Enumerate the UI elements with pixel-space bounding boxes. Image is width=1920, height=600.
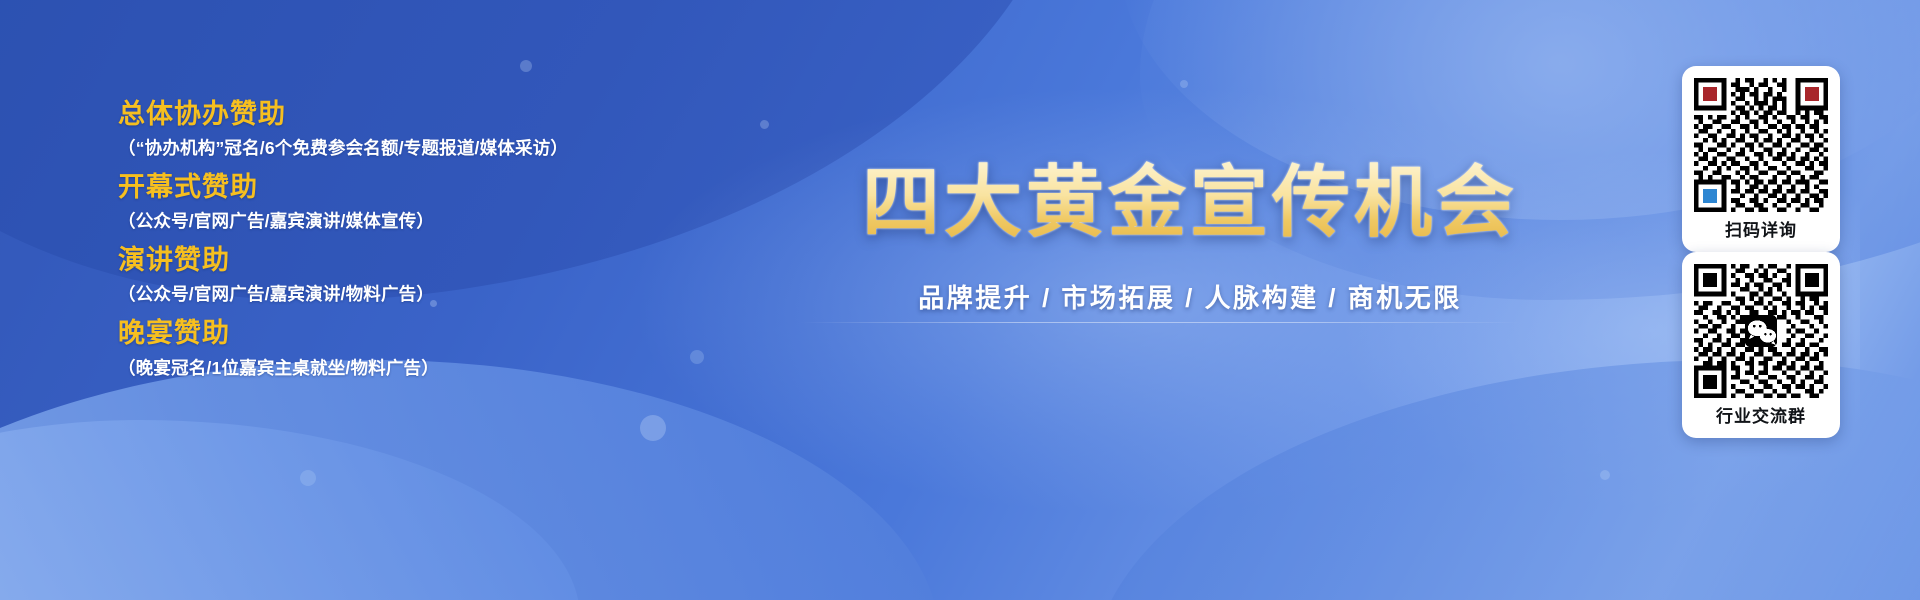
qr-card-consult[interactable]: 扫码详询 bbox=[1682, 66, 1840, 252]
bubble-decoration bbox=[520, 60, 532, 72]
sponsorship-title: 演讲赞助 bbox=[118, 241, 758, 280]
qr-code-icon bbox=[1694, 78, 1828, 212]
promo-banner: 总体协办赞助 （“协办机构”冠名/6个免费参会名额/专题报道/媒体采访） 开幕式… bbox=[0, 0, 1920, 600]
sponsorship-detail: （晚宴冠名/1位嘉宾主桌就坐/物料广告） bbox=[118, 354, 758, 382]
sponsorship-detail: （“协办机构”冠名/6个免费参会名额/专题报道/媒体采访） bbox=[118, 134, 758, 162]
qr-caption-group: 行业交流群 bbox=[1694, 404, 1828, 430]
wave-shape-bottom-left bbox=[0, 360, 940, 600]
page-title: 四大黄金宣传机会 bbox=[862, 160, 1518, 244]
headline-group: 四大黄金宣传机会 四大黄金宣传机会 品牌提升 / 市场拓展 / 人脉构建 / 商… bbox=[810, 160, 1570, 315]
headline-wrapper: 四大黄金宣传机会 四大黄金宣传机会 bbox=[862, 160, 1518, 244]
sponsorship-title: 晚宴赞助 bbox=[118, 314, 758, 353]
subtitle: 品牌提升 / 市场拓展 / 人脉构建 / 商机无限 bbox=[810, 278, 1570, 315]
bubble-decoration bbox=[760, 120, 769, 129]
qr-card-group[interactable]: 行业交流群 bbox=[1682, 252, 1840, 438]
qr-caption-consult: 扫码详询 bbox=[1694, 218, 1828, 244]
qr-code-icon bbox=[1694, 264, 1828, 398]
wave-shape-bottom-left-2 bbox=[0, 420, 580, 600]
sponsorship-title: 总体协办赞助 bbox=[118, 95, 758, 134]
bubble-decoration bbox=[1600, 470, 1610, 480]
divider-line bbox=[800, 322, 1520, 323]
sponsorship-detail: （公众号/官网广告/嘉宾演讲/物料广告） bbox=[118, 280, 758, 308]
bubble-decoration bbox=[1180, 80, 1188, 88]
sponsorship-list: 总体协办赞助 （“协办机构”冠名/6个免费参会名额/专题报道/媒体采访） 开幕式… bbox=[118, 95, 758, 388]
sponsorship-detail: （公众号/官网广告/嘉宾演讲/媒体宣传） bbox=[118, 207, 758, 235]
bubble-decoration bbox=[640, 415, 666, 441]
sponsorship-item: 开幕式赞助 （公众号/官网广告/嘉宾演讲/媒体宣传） bbox=[118, 168, 758, 235]
sponsorship-item: 晚宴赞助 （晚宴冠名/1位嘉宾主桌就坐/物料广告） bbox=[118, 314, 758, 381]
bubble-decoration bbox=[300, 470, 316, 486]
sponsorship-title: 开幕式赞助 bbox=[118, 168, 758, 207]
sponsorship-item: 总体协办赞助 （“协办机构”冠名/6个免费参会名额/专题报道/媒体采访） bbox=[118, 95, 758, 162]
sponsorship-item: 演讲赞助 （公众号/官网广告/嘉宾演讲/物料广告） bbox=[118, 241, 758, 308]
